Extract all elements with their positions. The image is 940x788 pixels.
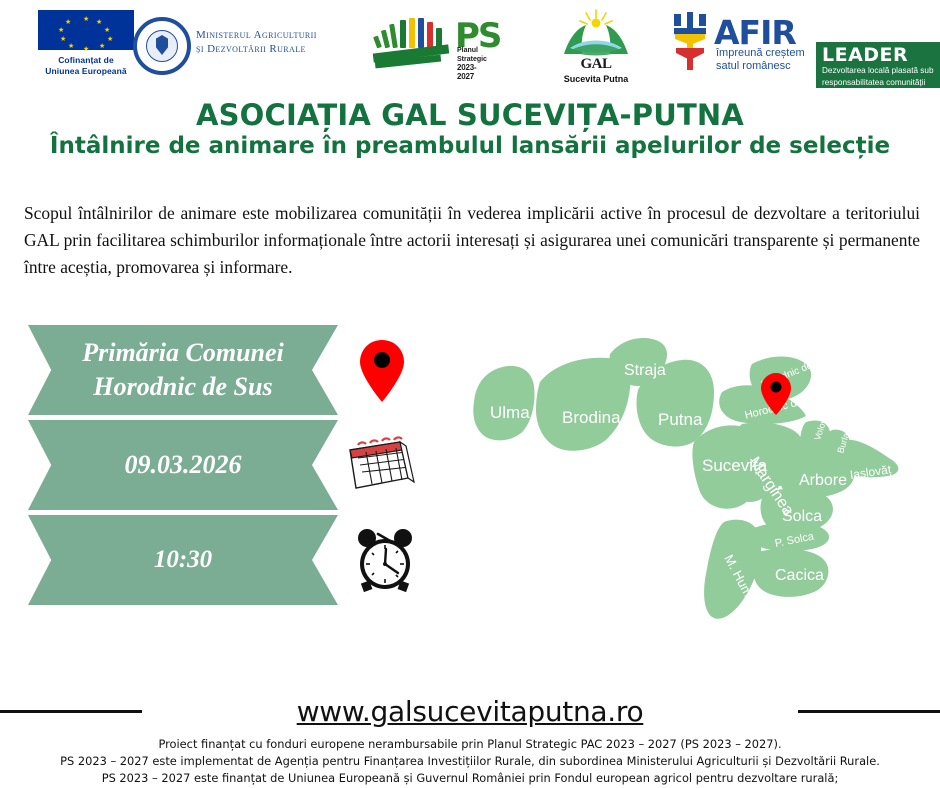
ministry-name-text: Ministerul Agriculturii și Dezvoltării R… [196,28,317,56]
page-title: ASOCIAȚIA GAL SUCEVIȚA-PUTNA [0,98,940,132]
gal-emblem-icon [556,8,636,60]
leader-logo: LEADER Dezvoltarea locală plasată sub re… [816,42,940,88]
gal-sucevita-putna-logo: GAL Sucevita Putna [556,8,636,84]
banner-location-line2: Horodnic de Sus [93,370,272,404]
ministry-line1: Ministerul Agriculturii [196,28,317,42]
government-seal-icon [133,17,191,75]
funding-disclaimer: Proiect finanțat cu fonduri europene ner… [0,736,940,787]
ps-bars-icon [375,14,447,62]
header-logo-strip: ★ ★ ★ ★ ★ ★ ★ ★ ★ ★ Cofinanțat de Uniune… [0,0,940,90]
map-location-marker [760,372,792,416]
disclaimer-line-1: Proiect finanțat cu fonduri europene ner… [0,736,940,753]
banner-location: Primăria Comunei Horodnic de Sus [28,325,338,415]
disclaimer-line-2: PS 2023 – 2027 este implementat de Agenț… [0,753,940,770]
government-seal-logo [133,17,191,75]
ps-subtitle: Planul Strategic 2023-2027 [457,47,487,81]
leader-sub-line2: responsabilitatea comunității [822,78,935,89]
ps-planul-strategic-logo: PS Planul Strategic 2023-2027 [375,14,447,62]
gal-caption-text: Sucevita Putna [564,74,629,84]
banner-time-value: 10:30 [154,546,212,574]
eu-caption-line1: Cofinanțat de [45,55,127,66]
eu-flag-caption: Cofinanțat de Uniunea Europeană [45,55,127,77]
afir-tag-line1: împreună creștem [716,47,805,60]
eu-caption-line2: Uniunea Europeană [45,66,127,77]
banner-date-value: 09.03.2026 [125,450,242,480]
banner-location-line1: Primăria Comunei [82,336,284,370]
calendar-icon [346,432,418,496]
eu-flag-icon: ★ ★ ★ ★ ★ ★ ★ ★ ★ ★ [38,10,134,50]
poster-canvas: ★ ★ ★ ★ ★ ★ ★ ★ ★ ★ Cofinanțat de Uniune… [0,0,940,788]
coat-of-arms-icon [146,30,178,62]
map-shapes [462,330,910,660]
territory-map: UlmaBrodinaStrajaPutnaSucevițaHorodnic d… [462,330,910,660]
disclaimer-line-3: PS 2023 – 2027 este finanțat de Uniunea … [0,770,940,787]
afir-wheat-icon [672,12,708,72]
ps-sub-line1: Planul Strategic [457,47,487,64]
ministry-line2: și Dezvoltării Rurale [196,42,317,56]
alarm-clock-icon [352,524,418,594]
banner-time: 10:30 [28,515,338,605]
leader-title-text: LEADER [822,45,935,65]
eu-flag-logo: ★ ★ ★ ★ ★ ★ ★ ★ ★ ★ Cofinanțat de Uniune… [38,10,134,77]
afir-logo [672,12,708,72]
banner-date: 09.03.2026 [28,420,338,510]
leader-sub-line1: Dezvoltarea locală plasată sub [822,66,935,77]
page-subtitle: Întâlnire de animare în preambulul lansă… [0,133,940,159]
website-link[interactable]: www.galsucevitaputna.ro [0,695,940,728]
intro-paragraph: Scopul întâlnirilor de animare este mobi… [24,200,920,281]
afir-tag-line2: satul românesc [716,60,805,73]
map-pin-icon [358,338,406,404]
afir-tagline: împreună creștem satul românesc [716,47,805,72]
ps-sub-line2: 2023-2027 [457,64,487,81]
